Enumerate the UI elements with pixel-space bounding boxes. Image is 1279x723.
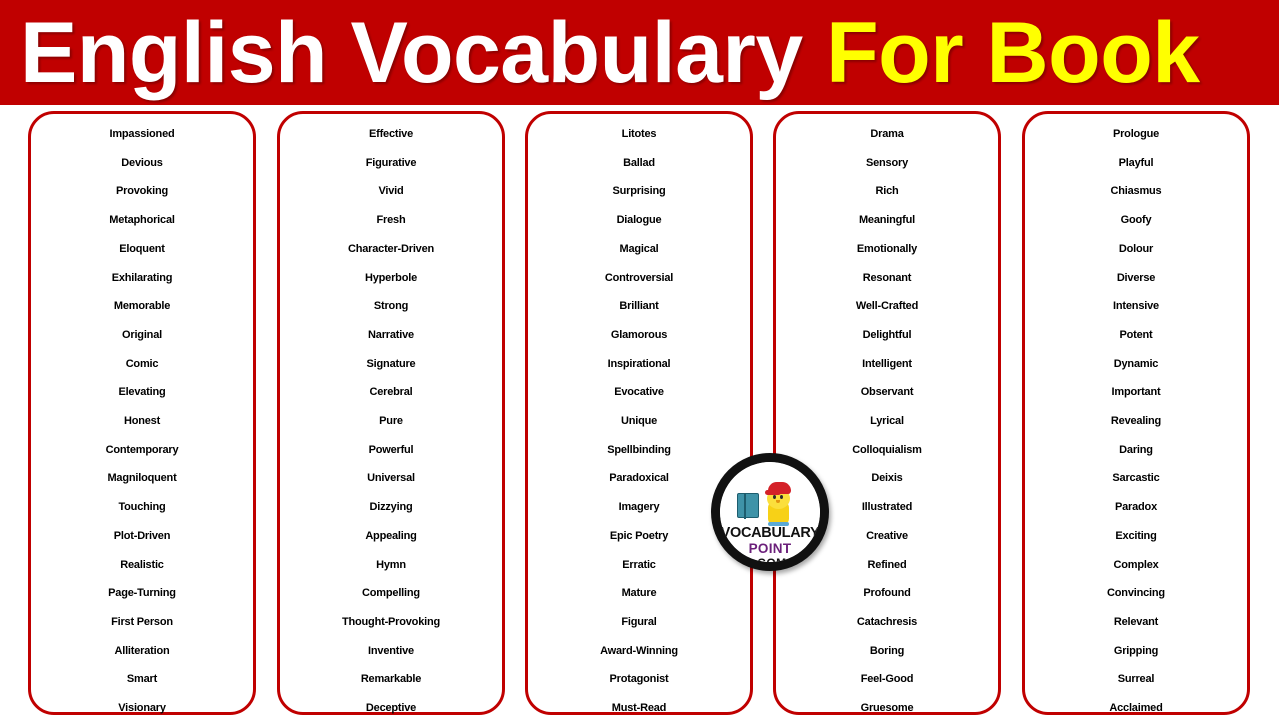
word-item: Hyperbole bbox=[280, 264, 502, 293]
book-icon bbox=[737, 493, 759, 518]
word-item: Deceptive bbox=[280, 694, 502, 723]
chick-mascot-icon bbox=[764, 482, 794, 526]
word-item: Well-Crafted bbox=[776, 292, 998, 321]
word-item: Exciting bbox=[1025, 522, 1247, 551]
word-item: Remarkable bbox=[280, 665, 502, 694]
chick-cap-icon bbox=[768, 482, 791, 494]
word-item: Thought-Provoking bbox=[280, 608, 502, 637]
word-item: Dolour bbox=[1025, 235, 1247, 264]
word-item: Drama bbox=[776, 120, 998, 149]
word-item: Delightful bbox=[776, 321, 998, 350]
word-item: Surreal bbox=[1025, 665, 1247, 694]
word-item: Powerful bbox=[280, 436, 502, 465]
word-item: Provoking bbox=[31, 177, 253, 206]
word-list-4: Drama Sensory Rich Meaningful Emotionall… bbox=[776, 120, 998, 723]
word-item: Goofy bbox=[1025, 206, 1247, 235]
word-item: Exhilarating bbox=[31, 264, 253, 293]
word-item: Inspirational bbox=[528, 350, 750, 379]
word-item: Boring bbox=[776, 637, 998, 666]
word-item: Mature bbox=[528, 579, 750, 608]
word-item: Dizzying bbox=[280, 493, 502, 522]
page-title: English Vocabulary For Book bbox=[20, 10, 1200, 96]
word-list-5: Prologue Playful Chiasmus Goofy Dolour D… bbox=[1025, 120, 1247, 723]
word-item: Dynamic bbox=[1025, 350, 1247, 379]
word-item: Appealing bbox=[280, 522, 502, 551]
word-item: Page-Turning bbox=[31, 579, 253, 608]
logo-ring: VOCABULARY POINT .COM bbox=[711, 453, 829, 571]
word-item: Feel-Good bbox=[776, 665, 998, 694]
word-item: Prologue bbox=[1025, 120, 1247, 149]
word-item: Strong bbox=[280, 292, 502, 321]
word-item: Pure bbox=[280, 407, 502, 436]
word-item: Rich bbox=[776, 177, 998, 206]
word-item: Ballad bbox=[528, 149, 750, 178]
chick-eye-right bbox=[780, 495, 783, 499]
word-item: Important bbox=[1025, 378, 1247, 407]
word-item: Original bbox=[31, 321, 253, 350]
word-item: Vivid bbox=[280, 177, 502, 206]
page-title-main: English Vocabulary bbox=[20, 5, 826, 101]
word-item: Plot-Driven bbox=[31, 522, 253, 551]
word-item: First Person bbox=[31, 608, 253, 637]
word-item: Eloquent bbox=[31, 235, 253, 264]
word-column-5: Prologue Playful Chiasmus Goofy Dolour D… bbox=[1022, 111, 1250, 715]
word-item: Cerebral bbox=[280, 378, 502, 407]
word-column-4: Drama Sensory Rich Meaningful Emotionall… bbox=[773, 111, 1001, 715]
word-item: Magniloquent bbox=[31, 464, 253, 493]
word-item: Effective bbox=[280, 120, 502, 149]
word-column-1: Impassioned Devious Provoking Metaphoric… bbox=[28, 111, 256, 715]
word-item: Litotes bbox=[528, 120, 750, 149]
word-column-2: Effective Figurative Vivid Fresh Charact… bbox=[277, 111, 505, 715]
word-item: Dialogue bbox=[528, 206, 750, 235]
word-item: Impassioned bbox=[31, 120, 253, 149]
word-item: Visionary bbox=[31, 694, 253, 723]
word-item: Brilliant bbox=[528, 292, 750, 321]
word-item: Complex bbox=[1025, 551, 1247, 580]
word-item: Compelling bbox=[280, 579, 502, 608]
word-item: Award-Winning bbox=[528, 637, 750, 666]
word-item: Elevating bbox=[31, 378, 253, 407]
word-columns-area: Impassioned Devious Provoking Metaphoric… bbox=[0, 105, 1279, 720]
word-item: Sensory bbox=[776, 149, 998, 178]
word-item: Chiasmus bbox=[1025, 177, 1247, 206]
word-item: Memorable bbox=[31, 292, 253, 321]
word-column-3: Litotes Ballad Surprising Dialogue Magic… bbox=[525, 111, 753, 715]
word-item: Touching bbox=[31, 493, 253, 522]
word-item: Controversial bbox=[528, 264, 750, 293]
word-item: Paradox bbox=[1025, 493, 1247, 522]
word-item: Hymn bbox=[280, 551, 502, 580]
word-item: Signature bbox=[280, 350, 502, 379]
word-item: Comic bbox=[31, 350, 253, 379]
word-item: Character-Driven bbox=[280, 235, 502, 264]
word-item: Magical bbox=[528, 235, 750, 264]
word-item: Profound bbox=[776, 579, 998, 608]
word-item: Alliteration bbox=[31, 637, 253, 666]
chick-eye-left bbox=[773, 495, 776, 499]
word-item: Narrative bbox=[280, 321, 502, 350]
word-item: Metaphorical bbox=[31, 206, 253, 235]
word-item: Honest bbox=[31, 407, 253, 436]
logo-text-point: POINT bbox=[720, 541, 820, 556]
word-item: Sarcastic bbox=[1025, 464, 1247, 493]
header-banner: English Vocabulary For Book bbox=[0, 0, 1279, 105]
word-item: Convincing bbox=[1025, 579, 1247, 608]
word-list-1: Impassioned Devious Provoking Metaphoric… bbox=[31, 120, 253, 723]
word-item: Protagonist bbox=[528, 665, 750, 694]
word-item: Potent bbox=[1025, 321, 1247, 350]
word-item: Fresh bbox=[280, 206, 502, 235]
word-item: Evocative bbox=[528, 378, 750, 407]
word-item: Inventive bbox=[280, 637, 502, 666]
word-item: Figurative bbox=[280, 149, 502, 178]
word-item: Diverse bbox=[1025, 264, 1247, 293]
word-item: Daring bbox=[1025, 436, 1247, 465]
word-item: Figural bbox=[528, 608, 750, 637]
word-item: Observant bbox=[776, 378, 998, 407]
word-item: Playful bbox=[1025, 149, 1247, 178]
watermark-logo: VOCABULARY POINT .COM bbox=[711, 453, 829, 571]
logo-text-com: .COM bbox=[720, 556, 820, 570]
word-item: Smart bbox=[31, 665, 253, 694]
word-item: Relevant bbox=[1025, 608, 1247, 637]
word-item: Intensive bbox=[1025, 292, 1247, 321]
word-item: Resonant bbox=[776, 264, 998, 293]
word-item: Meaningful bbox=[776, 206, 998, 235]
word-item: Lyrical bbox=[776, 407, 998, 436]
word-item: Surprising bbox=[528, 177, 750, 206]
word-item: Devious bbox=[31, 149, 253, 178]
word-item: Universal bbox=[280, 464, 502, 493]
word-item: Acclaimed bbox=[1025, 694, 1247, 723]
word-item: Gruesome bbox=[776, 694, 998, 723]
word-item: Contemporary bbox=[31, 436, 253, 465]
word-list-2: Effective Figurative Vivid Fresh Charact… bbox=[280, 120, 502, 723]
word-item: Emotionally bbox=[776, 235, 998, 264]
word-item: Intelligent bbox=[776, 350, 998, 379]
word-item: Glamorous bbox=[528, 321, 750, 350]
word-item: Unique bbox=[528, 407, 750, 436]
word-item: Catachresis bbox=[776, 608, 998, 637]
page-title-accent: For Book bbox=[826, 5, 1199, 101]
word-item: Realistic bbox=[31, 551, 253, 580]
logo-text-vocabulary: VOCABULARY bbox=[720, 525, 820, 541]
word-item: Must-Read bbox=[528, 694, 750, 723]
word-list-3: Litotes Ballad Surprising Dialogue Magic… bbox=[528, 120, 750, 723]
word-item: Revealing bbox=[1025, 407, 1247, 436]
word-item: Gripping bbox=[1025, 637, 1247, 666]
